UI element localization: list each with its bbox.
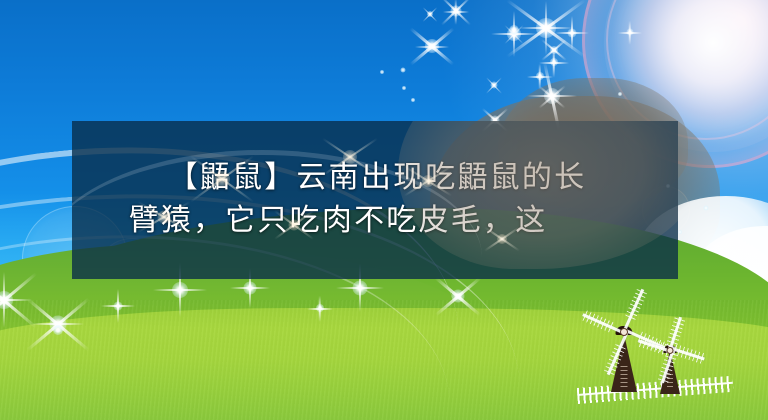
windmill-small	[648, 348, 692, 394]
windmill-hub	[620, 328, 628, 336]
article-banner-image: 【鼯鼠】云南出现吃鼯鼠的长 臂猿，它只吃肉不吃皮毛，这	[0, 0, 768, 420]
windmill-hub	[667, 347, 674, 354]
headline-banner: 【鼯鼠】云南出现吃鼯鼠的长 臂猿，它只吃肉不吃皮毛，这	[72, 121, 678, 279]
windmill-window-stripes	[621, 366, 628, 388]
